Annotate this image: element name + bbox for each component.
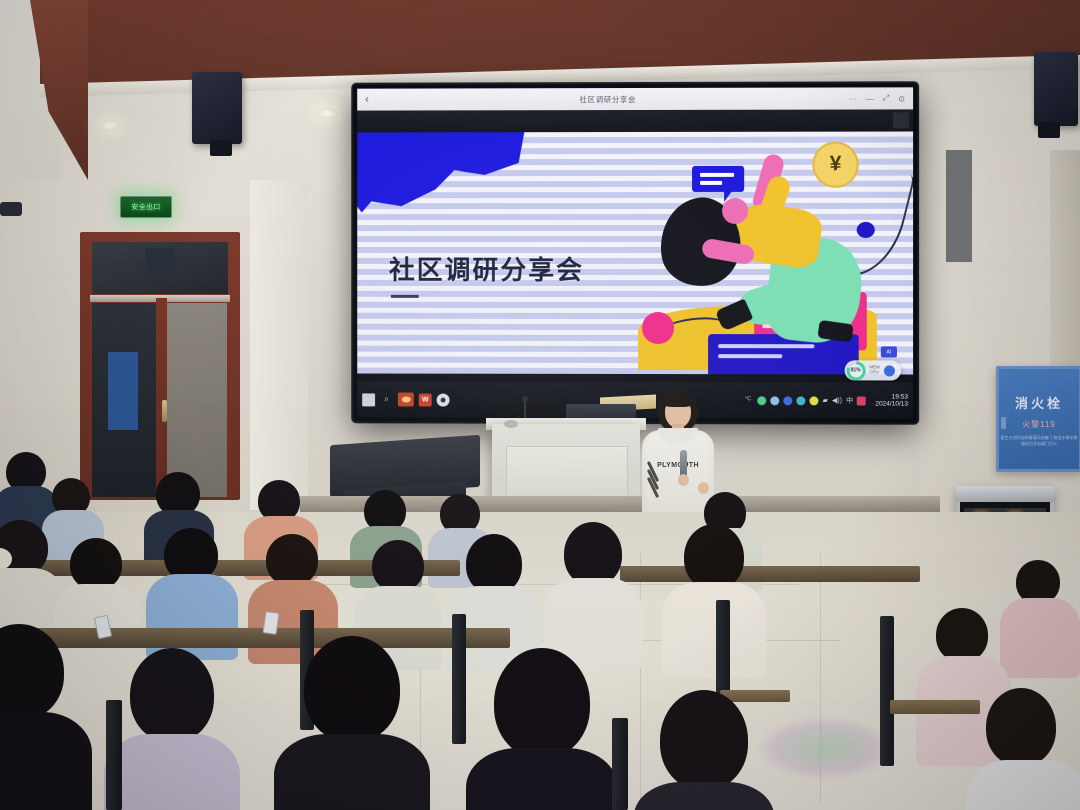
podium-knob [504,420,518,428]
head [986,688,1056,766]
bench-row [620,566,920,582]
window-controls: ··· — ⤢ ⊙ [849,93,906,103]
taskbar-clock[interactable]: 19:53 2024/10/13 [875,393,908,408]
slide-illustration: ¥ [646,136,909,373]
emergency-exit-sign: 安全出口 [120,196,172,218]
presenter-hand-left [678,474,689,486]
screen-display: ‹ 社区调研分享会 ··· — ⤢ ⊙ 社区调研分享会 [357,87,913,418]
door-blue-reflection [108,352,138,430]
fire-cabinet-fineprint: 发生火灾时击碎玻璃开启箱门 取出水带水枪接好后开启阀门灭火 [999,435,1079,447]
fire-hydrant-cabinet: 消火栓 火警119 发生火灾时击碎玻璃开启箱门 取出水带水枪接好后开启阀门灭火 [996,366,1080,472]
ai-badge[interactable]: AI [881,346,897,357]
illustration-head [722,198,748,224]
weather-temp-label[interactable]: °C [745,397,751,403]
exit-sign-label: 安全出口 [131,202,160,212]
wall-camera [0,202,22,216]
door-handle[interactable] [162,400,167,422]
illustration-yuan-coin: ¥ [812,142,858,188]
lecture-hall-photo: 安全出口 消火栓 火警119 发生火灾时击碎玻璃开启箱门 取出水带水枪接好后开启… [0,0,1080,810]
bench-row [0,628,510,648]
torso [662,582,766,678]
head [266,534,318,586]
taskbar-app-highlighted[interactable] [398,393,414,407]
head [494,648,590,758]
bench-post [880,616,894,766]
chrome-corner-button[interactable] [893,112,909,128]
tray-icon-cloud[interactable] [770,396,779,405]
torso [0,712,92,810]
minimize-icon[interactable]: — [866,94,874,103]
windows-start-icon[interactable] [362,393,375,406]
head [564,522,622,586]
bench-post [452,614,466,744]
wifi-icon[interactable]: ▰ [823,396,828,404]
performance-widget[interactable]: 81% MEM CPU [844,360,901,380]
app-titlebar: ‹ 社区调研分享会 ··· — ⤢ ⊙ [357,87,913,110]
cpu-usage-ring: 81% [846,361,865,380]
wall-recess-right [946,150,972,262]
wall-speaker-right [1034,52,1078,126]
torso [274,734,430,810]
bench-seat [890,700,980,714]
head [130,648,214,742]
illustration-speech-bubble [692,166,744,192]
yuan-symbol: ¥ [830,152,842,176]
head [70,538,122,590]
speaker-icon[interactable]: ◀)) [832,396,842,404]
head [660,690,748,790]
settings-circle-icon[interactable] [437,393,450,406]
illustration-blue-dot [857,222,875,238]
head [304,636,400,742]
head [466,534,522,594]
presentation-slide: 社区调研分享会 ¥ [357,131,913,374]
presenter-hand-right [698,482,709,494]
perf-metric-label: CPU [869,370,880,375]
app-window-title: 社区调研分享会 [369,93,849,105]
slide-title-underline [391,295,419,298]
more-icon[interactable]: ··· [849,94,857,103]
tray-icon-teal[interactable] [796,396,805,405]
wall-pillar [250,180,308,510]
door-leaf-right[interactable] [165,303,227,497]
projection-screen: ‹ 社区调研分享会 ··· — ⤢ ⊙ 社区调研分享会 [353,83,917,422]
system-tray[interactable]: °C ▰ ◀)) 中 19:53 2024/10/13 [745,393,908,408]
restore-icon[interactable]: ⤢ [883,93,889,103]
ceiling-downlight [100,120,120,131]
bench-post [612,718,628,810]
powerpoint-icon[interactable]: W [419,393,432,406]
clock-date: 2024/10/13 [875,401,908,409]
ime-indicator[interactable]: 中 [846,395,853,405]
torso [966,760,1080,810]
search-icon[interactable]: ⌕ [380,393,393,406]
podium-front-panel [506,446,628,500]
perf-expand-icon[interactable] [884,365,895,376]
torso [466,748,618,810]
door-mullion [156,298,167,498]
ceiling-downlight [318,108,338,119]
torso [1000,598,1080,678]
torso [104,734,240,810]
head [372,540,424,592]
bench-post [106,700,122,810]
wall-speaker-left [192,72,242,144]
hoodie-graphic-text: PLYMOUTH [650,462,706,469]
illustration-pink-dot [642,312,674,344]
floor-tile-line [640,552,641,802]
taskbar-pinned-group: ⌕ W [362,392,449,406]
projector-light-spill [760,718,890,778]
transom-object [145,248,175,278]
tray-icon-yellow[interactable] [809,396,818,405]
close-icon[interactable]: ⊙ [898,94,905,103]
presentation-chrome-band [357,109,913,132]
tray-icon-green[interactable] [757,396,766,405]
fire-cabinet-title: 消火栓 [999,393,1079,412]
cpu-usage-value: 81% [849,364,862,377]
clock-time: 19:53 [875,393,908,401]
head [684,524,744,590]
tray-icon-red[interactable] [857,396,866,405]
rack-top-plate [956,486,1054,502]
head [936,608,988,662]
tray-icon-blue[interactable] [783,396,792,405]
fire-cabinet-subtitle: 火警119 [999,419,1079,430]
slide-title: 社区调研分享会 [389,250,584,287]
perf-metric-labels: MEM CPU [869,366,880,375]
presenter-fringe [660,392,696,407]
